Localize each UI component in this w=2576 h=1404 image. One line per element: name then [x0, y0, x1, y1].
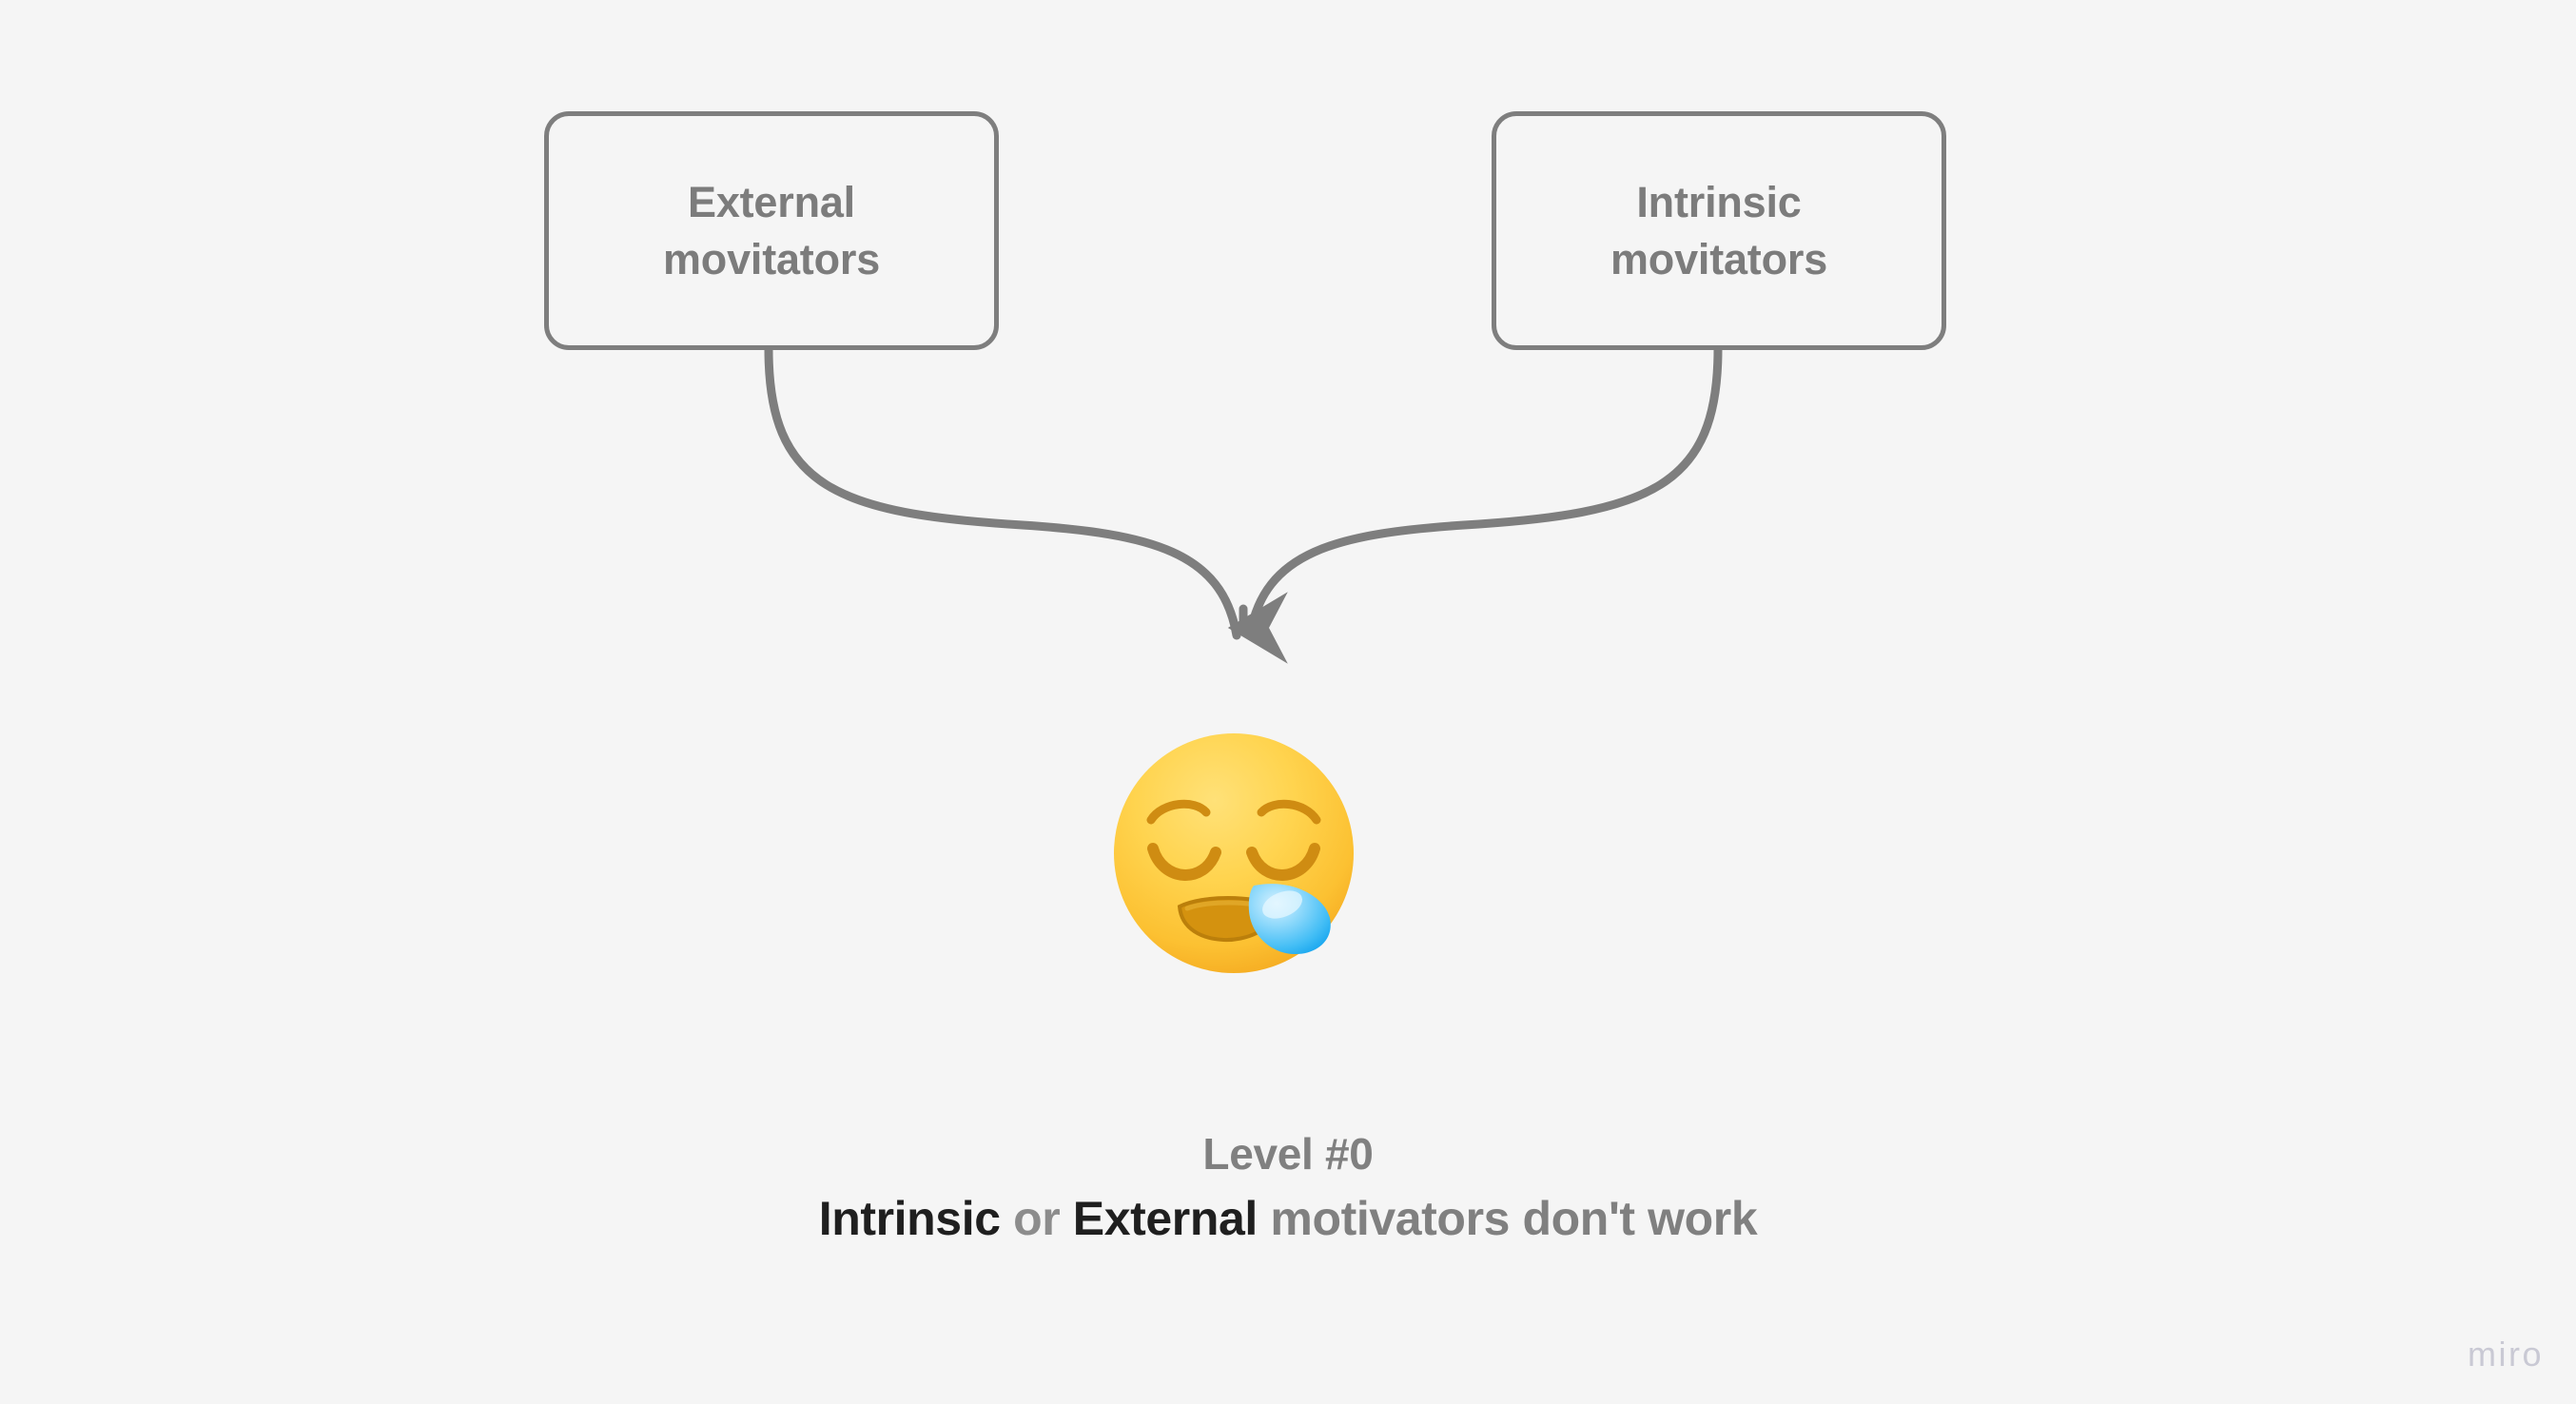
connector-intrinsic-to-emoji: [1250, 349, 1718, 635]
node-external-movitators[interactable]: External movitators: [544, 111, 999, 350]
caption-block: Level #0 Intrinsic or External motivator…: [0, 1127, 2576, 1248]
caption-statement-tail: motivators don't work: [1258, 1192, 1757, 1245]
connector-external-to-emoji: [769, 349, 1237, 635]
caption-statement-external: External: [1073, 1192, 1258, 1245]
miro-watermark: miro: [2468, 1337, 2544, 1372]
caption-level-label: Level #0: [0, 1127, 2576, 1182]
miro-board-canvas[interactable]: External movitators Intrinsic movitators: [0, 0, 2576, 1404]
caption-statement-intrinsic: Intrinsic: [819, 1192, 1001, 1245]
node-external-movitators-label: External movitators: [646, 174, 897, 288]
caption-statement-or: or: [1001, 1192, 1073, 1245]
node-intrinsic-movitators[interactable]: Intrinsic movitators: [1492, 111, 1946, 350]
sleepy-face-emoji-graphic: [1103, 718, 1375, 989]
node-intrinsic-movitators-label: Intrinsic movitators: [1593, 174, 1844, 288]
sleepy-face-emoji[interactable]: [1103, 718, 1375, 989]
caption-statement: Intrinsic or External motivators don't w…: [0, 1190, 2576, 1248]
